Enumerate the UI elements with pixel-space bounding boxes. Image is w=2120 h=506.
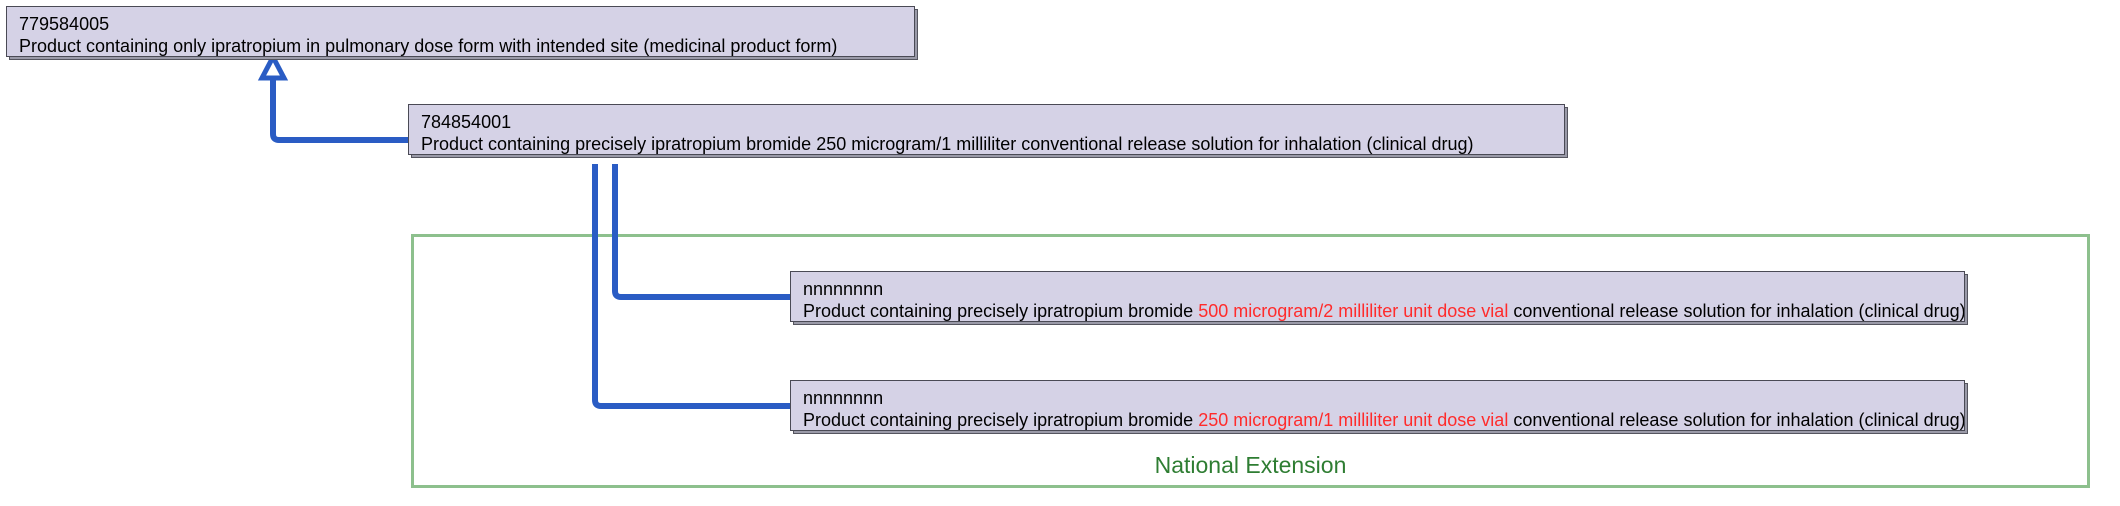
concept-term-highlight: 500 microgram/2 milliliter unit dose via… [1198,301,1508,321]
concept-term-prefix: Product containing precisely ipratropium… [421,134,1474,154]
concept-box-national-extension-250-microgram[interactable]: nnnnnnnn Product containing precisely ip… [790,380,1965,431]
concept-box-779584005[interactable]: 779584005 Product containing only ipratr… [6,6,915,57]
concept-term-suffix: conventional release solution for inhala… [1508,301,1965,321]
concept-term-prefix: Product containing only ipratropium in p… [19,36,837,56]
concept-term-prefix: Product containing precisely ipratropium… [803,301,1198,321]
concept-box-national-extension-500-microgram[interactable]: nnnnnnnn Product containing precisely ip… [790,271,1965,322]
generalization-arrowhead-1 [262,57,284,78]
concept-id: 779584005 [19,13,904,35]
edge-784854001-to-779584005 [273,72,408,140]
concept-box-784854001[interactable]: 784854001 Product containing precisely i… [408,104,1565,155]
concept-id: 784854001 [421,111,1554,133]
concept-term-highlight: 250 microgram/1 milliliter unit dose via… [1198,410,1508,430]
concept-term: Product containing precisely ipratropium… [421,133,1554,155]
concept-term: Product containing precisely ipratropium… [803,409,1954,431]
concept-id: nnnnnnnn [803,278,1954,300]
national-extension-label: National Extension [411,452,2090,478]
concept-term-suffix: conventional release solution for inhala… [1508,410,1965,430]
diagram-canvas: National Extension 779584005 Product con… [0,0,2120,506]
concept-id: nnnnnnnn [803,387,1954,409]
concept-term-prefix: Product containing precisely ipratropium… [803,410,1198,430]
concept-term: Product containing precisely ipratropium… [803,300,1954,322]
concept-term: Product containing only ipratropium in p… [19,35,904,57]
